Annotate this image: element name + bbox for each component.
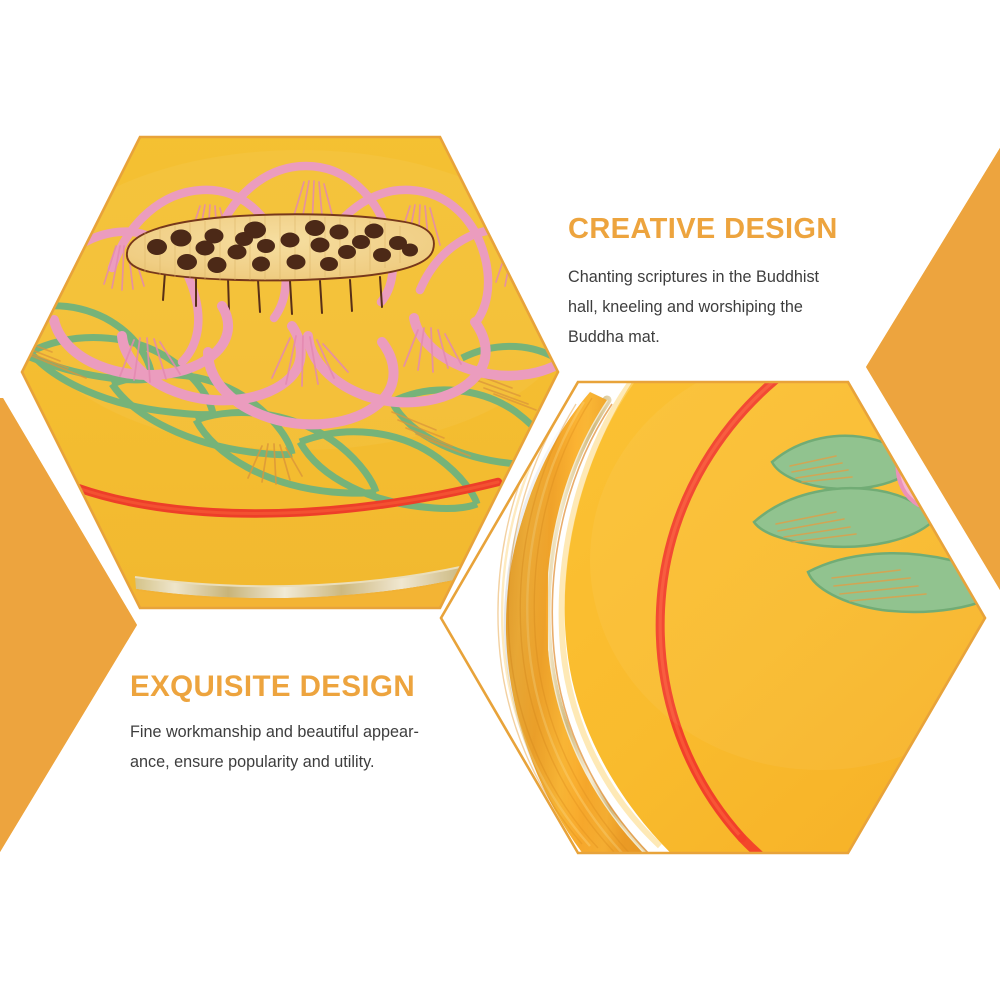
body-line: Chanting scriptures in the Buddhist	[568, 262, 898, 292]
infographic-artwork	[0, 0, 1000, 1000]
creative-design-heading: CREATIVE DESIGN	[568, 214, 898, 246]
feature-block-creative-design: CREATIVE DESIGN Chanting scriptures in t…	[568, 214, 898, 352]
exquisite-design-body: Fine workmanship and beautiful appear- a…	[130, 717, 490, 777]
body-line: ance, ensure popularity and utility.	[130, 747, 490, 777]
body-line: Buddha mat.	[568, 322, 898, 352]
feature-block-exquisite-design: EXQUISITE DESIGN Fine workmanship and be…	[130, 671, 490, 777]
exquisite-design-heading: EXQUISITE DESIGN	[130, 671, 490, 703]
body-line: Fine workmanship and beautiful appear-	[130, 717, 490, 747]
body-line: hall, kneeling and worshiping the	[568, 292, 898, 322]
infographic-canvas: CREATIVE DESIGN Chanting scriptures in t…	[0, 0, 1000, 1000]
creative-design-body: Chanting scriptures in the Buddhist hall…	[568, 262, 898, 352]
